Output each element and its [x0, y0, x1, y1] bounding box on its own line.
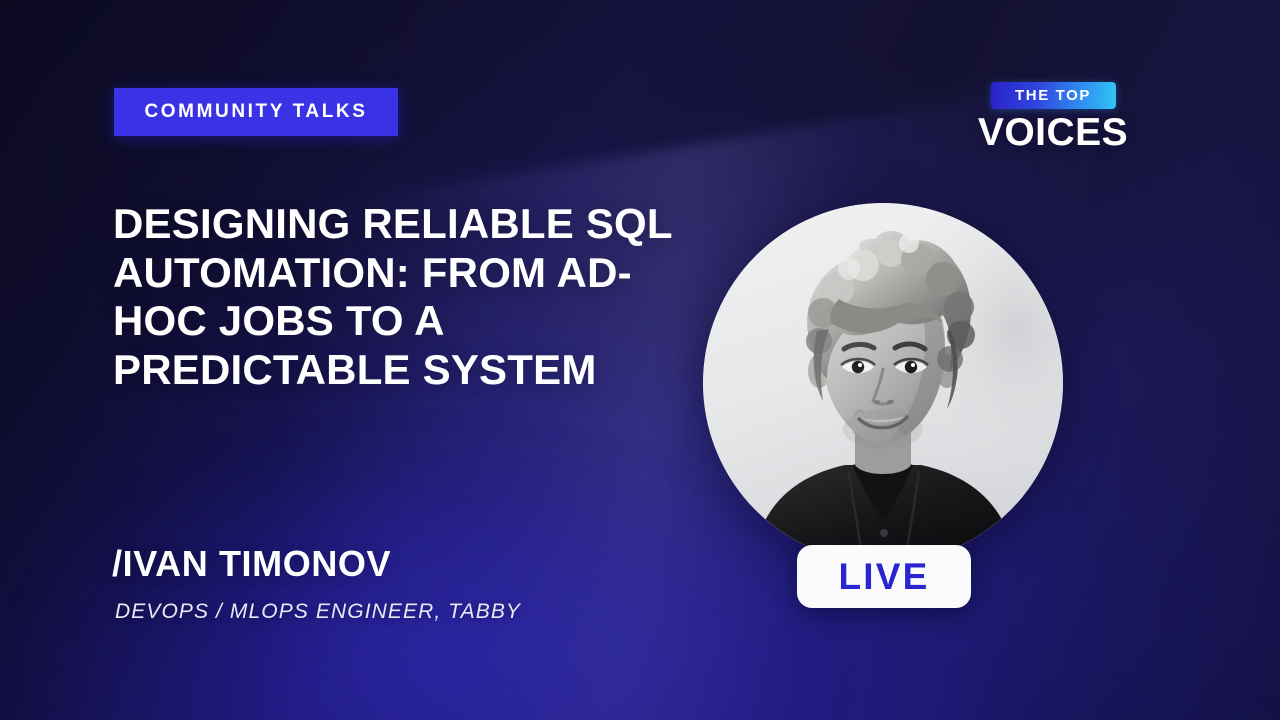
slide-content: COMMUNITY TALKS THE TOP VOICES DESIGNING… [0, 0, 1280, 720]
category-badge: COMMUNITY TALKS [114, 88, 398, 136]
status-badge: LIVE [797, 545, 971, 608]
status-badge-label: LIVE [838, 558, 929, 595]
brand-logo-badge-label: THE TOP [1015, 87, 1091, 104]
page-title: DESIGNING RELIABLE SQL AUTOMATION: FROM … [113, 200, 673, 395]
speaker-portrait-image [703, 203, 1063, 563]
avatar [703, 203, 1063, 563]
brand-logo-badge: THE TOP [991, 82, 1116, 109]
speaker-role: DEVOPS / MLOPS ENGINEER, TABBY [115, 600, 521, 624]
speaker-name: /IVAN TIMONOV [112, 543, 391, 585]
speaker-portrait-container [703, 203, 1063, 563]
brand-logo: THE TOP VOICES [968, 82, 1138, 152]
category-badge-label: COMMUNITY TALKS [144, 101, 367, 123]
brand-logo-wordmark: VOICES [978, 113, 1128, 152]
event-announcement-slide: COMMUNITY TALKS THE TOP VOICES DESIGNING… [0, 0, 1280, 720]
